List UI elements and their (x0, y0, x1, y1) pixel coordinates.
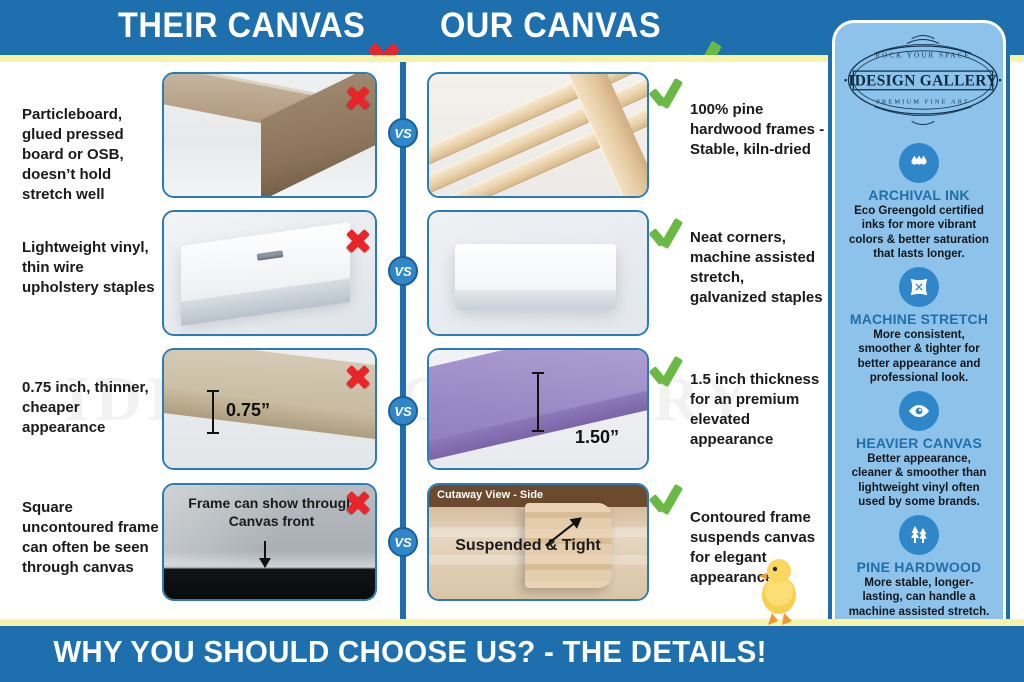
duckling-mascot-icon (752, 555, 806, 627)
feature-heavier-canvas-desc: Better appearance, cleaner & smoother th… (842, 452, 996, 509)
feature-machine-stretch: MACHINE STRETCH More consistent, smoothe… (842, 267, 996, 385)
row3-right-text: 1.5 inch thickness for an premium elevat… (690, 370, 825, 450)
water-drops-icon (899, 143, 939, 183)
row1-right-image (427, 72, 649, 198)
row4-right-badge-label: Cutaway View - Side (437, 489, 543, 501)
feature-heavier-canvas: HEAVIER CANVAS Better appearance, cleane… (842, 391, 996, 509)
header-our-canvas-label: OUR CANVAS (440, 6, 661, 45)
logo-brand-text: ·IDESIGN GALLERY· (843, 73, 1003, 90)
brand-sidebar: ROCK YOUR SPACE ·IDESIGN GALLERY· PREMIU… (828, 16, 1010, 666)
feature-pine-hardwood-desc: More stable, longer-lasting, can handle … (842, 576, 996, 619)
feature-machine-stretch-desc: More consistent, smoother & tighter for … (842, 328, 996, 385)
feature-archival-ink-title: ARCHIVAL INK (842, 187, 996, 203)
row3-right-dimension-label: 1.50” (575, 427, 619, 448)
logo-bottom-text: PREMIUM FINE ART (876, 98, 970, 105)
footer-title: WHY YOU SHOULD CHOOSE US? - THE DETAILS! (21, 634, 800, 670)
footer-bar: WHY YOU SHOULD CHOOSE US? - THE DETAILS! (0, 626, 1024, 682)
row2-left-text: Lightweight vinyl, thin wire upholstery … (22, 238, 162, 298)
row2-right-text: Neat corners, machine assisted stretch, … (690, 228, 825, 308)
vs-badge-1: VS (388, 118, 418, 148)
feature-pine-hardwood-title: PINE HARDWOOD (842, 559, 996, 575)
brand-logo: ROCK YOUR SPACE ·IDESIGN GALLERY· PREMIU… (842, 32, 1004, 128)
pine-trees-icon (899, 515, 939, 555)
row3-right-dimension-line (537, 372, 539, 432)
row4-left-text: Square uncontoured frame can often be se… (22, 498, 162, 578)
row3-left-text: 0.75 inch, thinner, cheaper appearance (22, 378, 162, 438)
row4-right-overlay-text: Suspended & Tight (443, 537, 613, 555)
feature-heavier-canvas-title: HEAVIER CANVAS (842, 435, 996, 451)
eye-icon (899, 391, 939, 431)
stretched-canvas-icon (899, 267, 939, 307)
vs-badge-4: VS (388, 527, 418, 557)
feature-archival-ink-desc: Eco Greengold certified inks for more vi… (842, 204, 996, 261)
row4-left-arrow-icon (264, 541, 266, 567)
row3-left-dimension-line (212, 390, 214, 434)
divider-rule-bottom (0, 619, 1024, 626)
row3-left-dimension-label: 0.75” (226, 400, 270, 421)
feature-pine-hardwood: PINE HARDWOOD More stable, longer-lastin… (842, 515, 996, 619)
row2-right-image (427, 210, 649, 336)
row4-left-overlay-text: Frame can show through Canvas front (174, 495, 369, 530)
row2-left-image (162, 210, 377, 336)
infographic-page: THEIR CANVAS OUR CANVAS IDESIGN GALLERY … (0, 0, 1024, 682)
row4-right-image: Cutaway View - Side Suspended & Tight (427, 483, 649, 601)
row3-left-image: 0.75” (162, 348, 377, 470)
row1-right-text: 100% pine hardwood frames - Stable, kiln… (690, 100, 825, 160)
header-their-canvas-label: THEIR CANVAS (118, 6, 365, 45)
header-our-canvas: OUR CANVAS (440, 6, 680, 46)
header-their-canvas: THEIR CANVAS (118, 6, 384, 46)
vs-badge-2: VS (388, 256, 418, 286)
row3-right-image: 1.50” (427, 348, 649, 470)
feature-archival-ink: ARCHIVAL INK Eco Greengold certified ink… (842, 143, 996, 261)
row4-left-image: Frame can show through Canvas front (162, 483, 377, 601)
logo-top-text: ROCK YOUR SPACE (875, 51, 970, 59)
vs-badge-3: VS (388, 396, 418, 426)
feature-machine-stretch-title: MACHINE STRETCH (842, 311, 996, 327)
row1-left-text: Particleboard, glued pressed board or OS… (22, 105, 162, 205)
row1-left-image (162, 72, 377, 198)
